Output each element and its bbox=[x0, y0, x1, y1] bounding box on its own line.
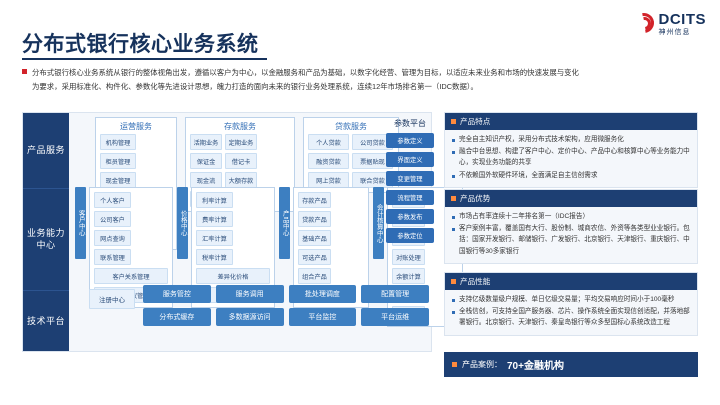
cell[interactable]: 联系管理 bbox=[94, 249, 131, 265]
cell[interactable]: 融资贷款 bbox=[308, 153, 349, 169]
architecture-diagram: 产品服务 业务能力中心 技术平台 运营服务 机构管理 柜员管理 现金管理 凭证管… bbox=[22, 112, 432, 352]
cell[interactable]: 网点查询 bbox=[94, 230, 131, 246]
cell[interactable]: 个人贷款 bbox=[308, 134, 349, 150]
panel-body-features: 完全自主知识产权，采用分布式技术架构，应用微服务化 融合中台思想、构建了客户中心… bbox=[445, 130, 697, 187]
cell[interactable]: 存款产品 bbox=[298, 192, 331, 208]
square-icon bbox=[451, 279, 456, 284]
panel-title: 产品性能 bbox=[460, 276, 490, 287]
panel-title: 产品特点 bbox=[460, 116, 490, 127]
platform-button[interactable]: 界面定义 bbox=[386, 152, 434, 167]
bullet-icon bbox=[22, 69, 27, 74]
tech-buttons: 服务管控 服务调用 批处理调度 配置管理 分布式缓存 多数据源访问 平台监控 平… bbox=[143, 285, 429, 326]
list-item: 融合中台思想、构建了客户中心、定价中心、产品中心和核算中心等业务能力中心，实现业… bbox=[452, 146, 690, 168]
cell[interactable]: 定期业务 bbox=[225, 134, 257, 150]
cell[interactable]: 基础产品 bbox=[298, 230, 331, 246]
vlabel-customer-center: 客户中心 bbox=[75, 187, 86, 259]
tech-button[interactable]: 服务管控 bbox=[143, 285, 211, 303]
cell[interactable]: 公司客户 bbox=[94, 211, 131, 227]
panel-header-performance: 产品性能 bbox=[445, 273, 697, 290]
tech-button[interactable]: 平台监控 bbox=[289, 308, 357, 326]
parameter-platform: 参数平台 参数定义 界面定义 变更管理 流程管理 参数发布 参数定位 bbox=[386, 118, 434, 247]
list-item: 完全自主知识产权，采用分布式技术架构，应用微服务化 bbox=[452, 134, 690, 145]
logo-arc-icon bbox=[633, 12, 655, 34]
tech-button[interactable]: 平台运维 bbox=[361, 308, 429, 326]
cell[interactable]: 对账处理 bbox=[392, 249, 425, 265]
list-item: 市场占有率连续十二年排名第一（IDC报告） bbox=[452, 211, 690, 222]
logo-text-cn: 神州信息 bbox=[659, 29, 707, 36]
list-item: 不依赖国外软硬件环境，全面满足自主信创需求 bbox=[452, 170, 690, 181]
group-title-loan: 贷款服务 bbox=[304, 118, 398, 134]
left-seg-capability-center: 业务能力中心 bbox=[23, 189, 69, 291]
panel-product-performance: 产品性能 支持亿级数量级户规模、单日亿级交易量；平均交易响应时间小于100毫秒 … bbox=[444, 272, 698, 336]
panel-product-features: 产品特点 完全自主知识产权，采用分布式技术架构，应用微服务化 融合中台思想、构建… bbox=[444, 112, 698, 188]
cell[interactable]: 个人客户 bbox=[94, 192, 131, 208]
vlabel-accounting-center: 会计核算中心 bbox=[373, 187, 384, 259]
tech-button[interactable]: 多数据源访问 bbox=[216, 308, 284, 326]
list-item: 客户案例丰富，覆盖国有大行、股份制、城商农信、外资等各类型业业银行。包括：国家开… bbox=[452, 223, 690, 257]
cell[interactable]: 客户关系管理 bbox=[94, 268, 168, 284]
tech-button[interactable]: 服务调用 bbox=[216, 285, 284, 303]
tech-button[interactable]: 分布式缓存 bbox=[143, 308, 211, 326]
tech-row-2: 分布式缓存 多数据源访问 平台监控 平台运维 bbox=[143, 308, 429, 326]
tech-row-1: 服务管控 服务调用 批处理调度 配置管理 bbox=[143, 285, 429, 303]
logo-text-en: DCITS bbox=[659, 12, 707, 27]
panel-product-advantages: 产品优势 市场占有率连续十二年排名第一（IDC报告） 客户案例丰富，覆盖国有大行… bbox=[444, 189, 698, 264]
cell[interactable]: 利率计算 bbox=[196, 192, 233, 208]
left-seg-product-service: 产品服务 bbox=[23, 113, 69, 189]
registry-center[interactable]: 注册中心 bbox=[89, 289, 135, 309]
cell[interactable]: 费率计算 bbox=[196, 211, 233, 227]
cell[interactable]: 差异化价格 bbox=[196, 268, 270, 284]
diagram-left-column: 产品服务 业务能力中心 技术平台 bbox=[23, 113, 69, 351]
group-title-operation: 运营服务 bbox=[96, 118, 176, 134]
intro-line-2: 为要求，采用标准化、构件化、参数化等先进设计思想，魄力打造的面向未来的银行业务处… bbox=[32, 82, 478, 91]
parameter-platform-title: 参数平台 bbox=[386, 118, 434, 129]
platform-button[interactable]: 流程管理 bbox=[386, 190, 434, 205]
cell[interactable]: 活期业务 bbox=[190, 134, 222, 150]
cell[interactable]: 大额存款 bbox=[225, 172, 257, 188]
intro-paragraph: 分布式银行核心业务系统从银行的整体视角出发，遵循以客户为中心，以金融服务和产品为… bbox=[22, 66, 698, 93]
left-seg-tech-platform: 技术平台 bbox=[23, 291, 69, 351]
vlabel-product-center: 产品中心 bbox=[279, 187, 290, 259]
slide-page: DCITS 神州信息 分布式银行核心业务系统 分布式银行核心业务系统从银行的整体… bbox=[0, 0, 720, 405]
panel-body-performance: 支持亿级数量级户规模、单日亿级交易量；平均交易响应时间小于100毫秒 全栈信创，… bbox=[445, 290, 697, 335]
list-item: 全栈信创，可支持全国产服务器、芯片、操作系统全面实现信创适配，并落地部署银行。北… bbox=[452, 306, 690, 328]
case-label: 产品案例： bbox=[462, 359, 502, 370]
platform-button[interactable]: 参数定位 bbox=[386, 228, 434, 243]
tech-button[interactable]: 配置管理 bbox=[361, 285, 429, 303]
cell[interactable]: 柜员管理 bbox=[100, 153, 136, 169]
panel-header-features: 产品特点 bbox=[445, 113, 697, 130]
cell[interactable]: 税率计算 bbox=[196, 249, 233, 265]
cell[interactable]: 组合产品 bbox=[298, 268, 331, 284]
cell[interactable]: 借记卡 bbox=[225, 153, 257, 169]
square-icon bbox=[451, 196, 456, 201]
company-logo: DCITS 神州信息 bbox=[633, 12, 707, 36]
cell[interactable]: 贷款产品 bbox=[298, 211, 331, 227]
cell[interactable]: 可选产品 bbox=[298, 249, 331, 265]
cell[interactable]: 汇率计算 bbox=[196, 230, 233, 246]
vlabel-price-center: 价格中心 bbox=[177, 187, 188, 259]
panel-body-advantages: 市场占有率连续十二年排名第一（IDC报告） 客户案例丰富，覆盖国有大行、股份制、… bbox=[445, 207, 697, 263]
cell[interactable]: 现金管理 bbox=[100, 172, 136, 188]
cell[interactable]: 现金流 bbox=[190, 172, 222, 188]
cell[interactable]: 机构管理 bbox=[100, 134, 136, 150]
case-value: 70+金融机构 bbox=[507, 357, 564, 372]
square-icon bbox=[451, 119, 456, 124]
diagram-content: 运营服务 机构管理 柜员管理 现金管理 凭证管理 风险管理 辅助交易 存款服务 … bbox=[69, 113, 431, 351]
group-title-deposit: 存款服务 bbox=[186, 118, 294, 134]
panel-header-advantages: 产品优势 bbox=[445, 190, 697, 207]
title-underline bbox=[22, 58, 267, 60]
tech-button[interactable]: 批处理调度 bbox=[289, 285, 357, 303]
square-icon bbox=[452, 362, 457, 367]
cell[interactable]: 网上贷款 bbox=[308, 172, 349, 188]
platform-button[interactable]: 参数定义 bbox=[386, 133, 434, 148]
platform-button[interactable]: 变更管理 bbox=[386, 171, 434, 186]
group-cells-loan: 个人贷款 公司贷款 融资贷款 票据贴现 网上贷款 联合贷款 bbox=[304, 134, 398, 192]
platform-button[interactable]: 参数发布 bbox=[386, 209, 434, 224]
page-title: 分布式银行核心业务系统 bbox=[22, 28, 259, 58]
product-case-banner: 产品案例： 70+金融机构 bbox=[444, 352, 698, 377]
list-item: 支持亿级数量级户规模、单日亿级交易量；平均交易响应时间小于100毫秒 bbox=[452, 294, 690, 305]
cell[interactable]: 余额计算 bbox=[392, 268, 425, 284]
panel-title: 产品优势 bbox=[460, 193, 490, 204]
intro-line-1: 分布式银行核心业务系统从银行的整体视角出发，遵循以客户为中心，以金融服务和产品为… bbox=[32, 68, 579, 77]
group-loan-service: 贷款服务 个人贷款 公司贷款 融资贷款 票据贴现 网上贷款 联合贷款 bbox=[303, 117, 399, 193]
cell[interactable]: 保证金 bbox=[190, 153, 222, 169]
